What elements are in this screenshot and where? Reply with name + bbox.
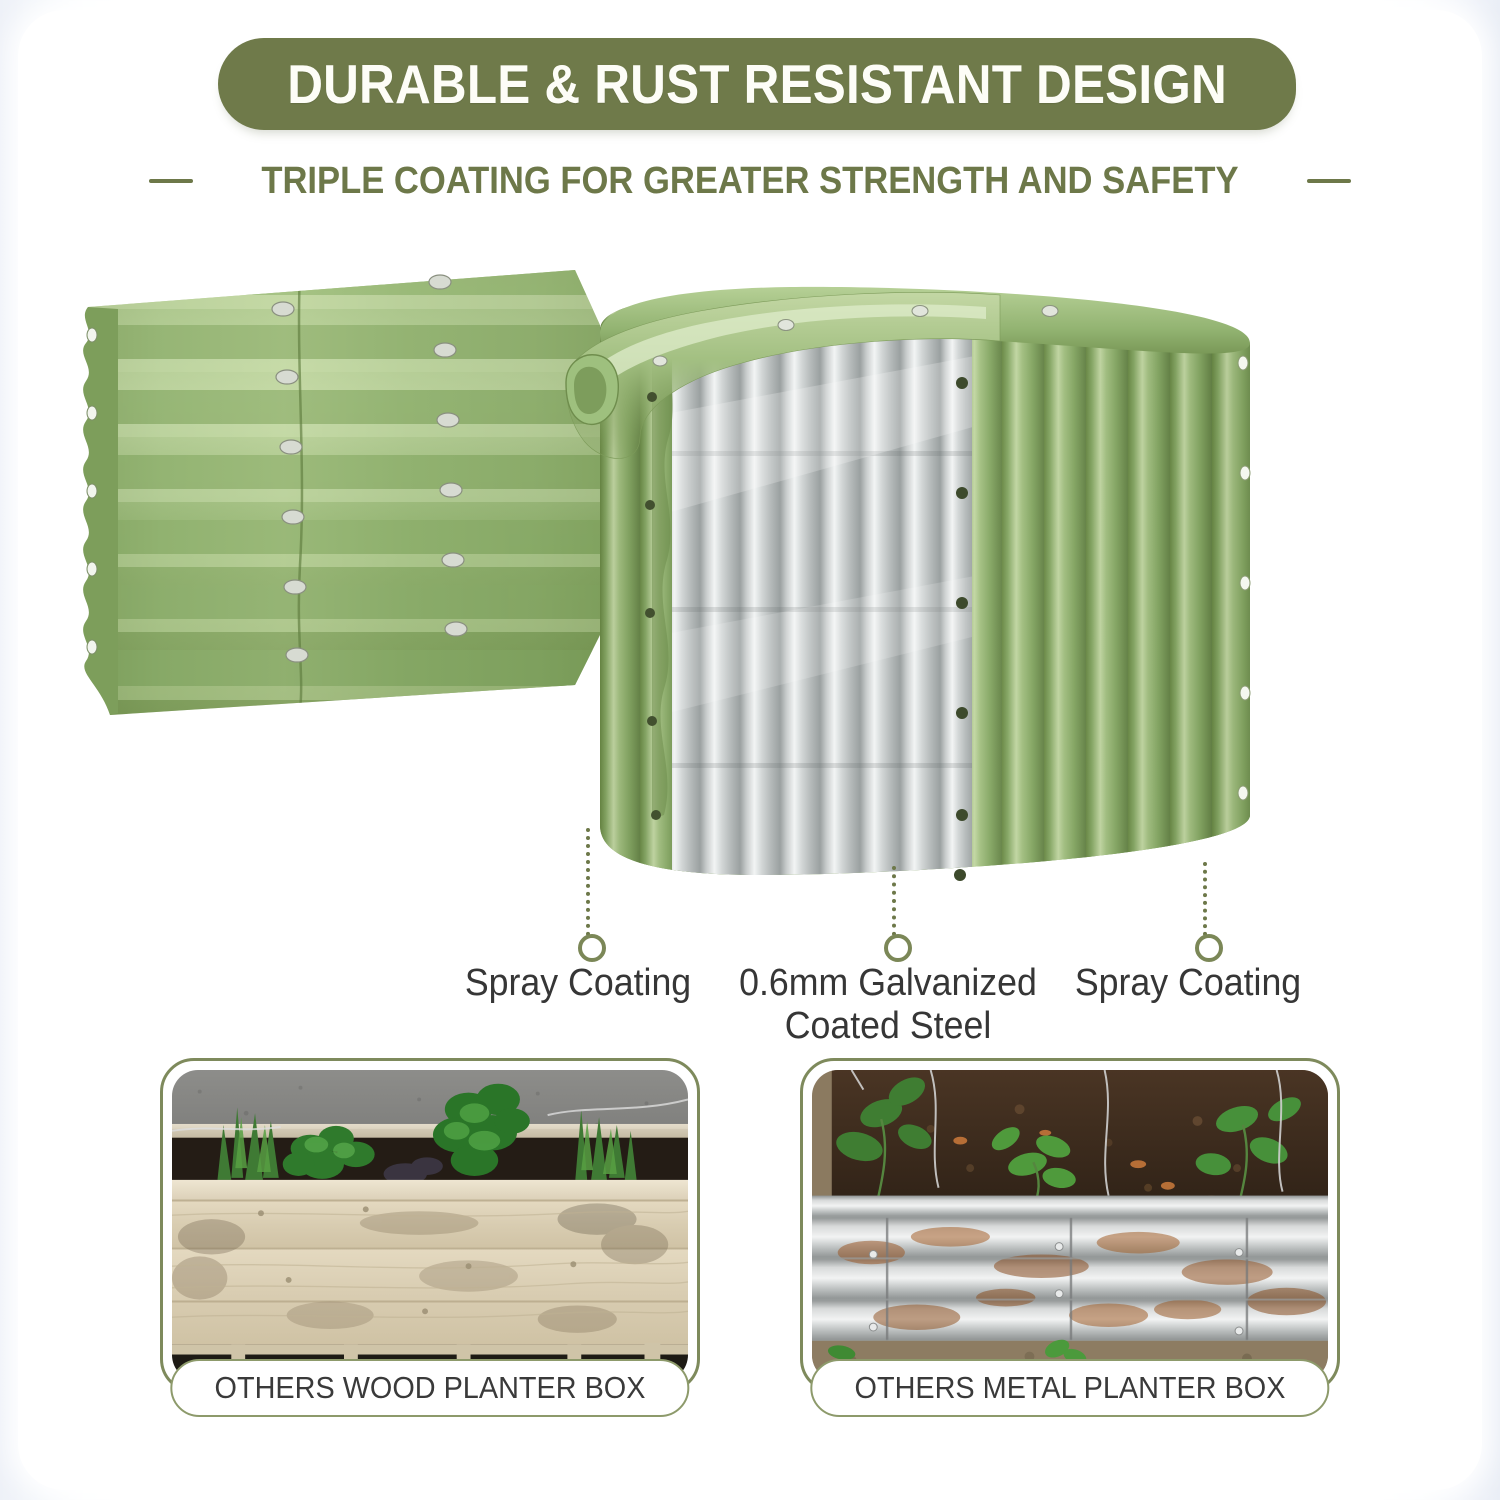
dash-left-icon bbox=[149, 179, 193, 183]
comparison-card-metal: OTHERS METAL PLANTER BOX bbox=[800, 1058, 1340, 1393]
callout-label-spray-coating-right: Spray Coating bbox=[1028, 962, 1348, 1005]
product-illustration bbox=[0, 215, 1500, 945]
curved-bed-body bbox=[566, 275, 1260, 895]
leader-line-mid bbox=[892, 866, 899, 936]
leader-ring-right bbox=[1195, 934, 1223, 962]
dash-right-icon bbox=[1307, 179, 1351, 183]
leader-ring-left bbox=[578, 934, 606, 962]
leader-line-left bbox=[586, 828, 593, 936]
photo-wood-planter bbox=[172, 1070, 688, 1381]
flat-corrugated-panel bbox=[60, 255, 620, 735]
comparison-card-wood: OTHERS WOOD PLANTER BOX bbox=[160, 1058, 700, 1393]
card-label-wood-text: OTHERS WOOD PLANTER BOX bbox=[215, 1370, 646, 1406]
card-label-metal: OTHERS METAL PLANTER BOX bbox=[810, 1359, 1329, 1417]
card-label-wood: OTHERS WOOD PLANTER BOX bbox=[170, 1359, 689, 1417]
page-subtitle: TRIPLE COATING FOR GREATER STRENGTH AND … bbox=[261, 160, 1238, 203]
callout-label-galvanized-steel: 0.6mm Galvanized Coated Steel bbox=[709, 962, 1066, 1047]
leader-line-right bbox=[1203, 862, 1210, 936]
photo-metal-planter bbox=[812, 1070, 1328, 1381]
header-banner: DURABLE & RUST RESISTANT DESIGN bbox=[218, 38, 1296, 130]
leader-ring-mid bbox=[884, 934, 912, 962]
subtitle-row: TRIPLE COATING FOR GREATER STRENGTH AND … bbox=[0, 152, 1500, 210]
infographic-page: DURABLE & RUST RESISTANT DESIGN TRIPLE C… bbox=[0, 0, 1500, 1500]
callout-label-spray-coating-left: Spray Coating bbox=[418, 962, 738, 1005]
card-label-metal-text: OTHERS METAL PLANTER BOX bbox=[855, 1370, 1286, 1406]
page-title: DURABLE & RUST RESISTANT DESIGN bbox=[287, 52, 1227, 116]
